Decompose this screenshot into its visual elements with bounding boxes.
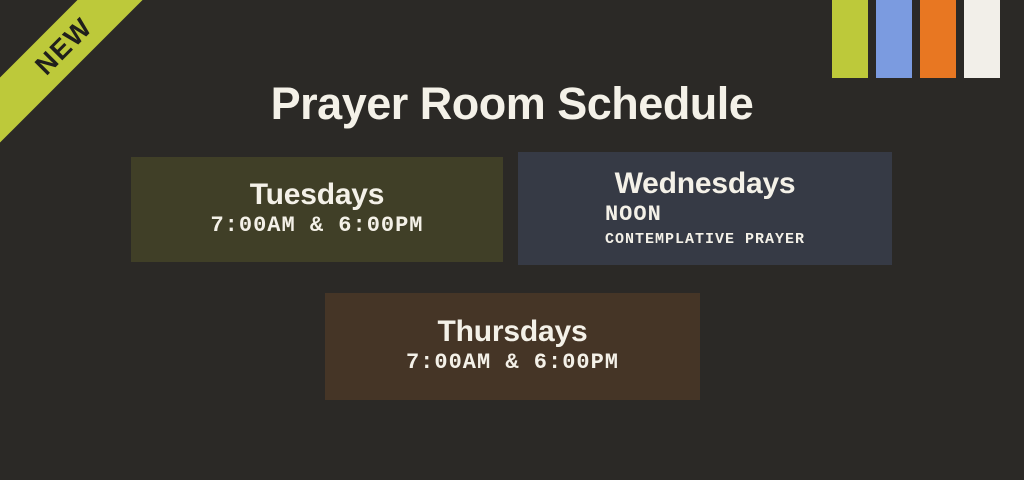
bar-orange [920, 0, 956, 78]
page-title: Prayer Room Schedule [0, 79, 1024, 129]
card-time-label: 7:00AM & 6:00PM [406, 349, 619, 378]
ribbon-label: NEW [29, 13, 97, 81]
prayer-room-schedule-poster: NEW Prayer Room Schedule Tuesdays 7:00AM… [0, 0, 1024, 480]
card-day-label: Tuesdays [250, 178, 385, 213]
ribbon-band: NEW [0, 0, 168, 152]
card-content: Wednesdays NOON CONTEMPLATIVE PRAYER [518, 152, 892, 265]
card-time-label: NOON [605, 201, 662, 230]
card-detail-block: NOON CONTEMPLATIVE PRAYER [605, 201, 805, 250]
card-day-label: Thursdays [438, 315, 588, 350]
schedule-card-tuesdays: Tuesdays 7:00AM & 6:00PM [131, 157, 503, 262]
card-time-label: 7:00AM & 6:00PM [210, 212, 423, 241]
bar-blue [876, 0, 912, 78]
bar-cream [964, 0, 1000, 78]
bar-yellow-green [832, 0, 868, 78]
card-content: Tuesdays 7:00AM & 6:00PM [131, 157, 503, 262]
card-day-label: Wednesdays [615, 167, 796, 202]
color-bar-group [832, 0, 1000, 78]
schedule-card-wednesdays: Wednesdays NOON CONTEMPLATIVE PRAYER [518, 152, 892, 265]
card-note-label: CONTEMPLATIVE PRAYER [605, 230, 805, 250]
schedule-card-thursdays: Thursdays 7:00AM & 6:00PM [325, 293, 700, 400]
card-content: Thursdays 7:00AM & 6:00PM [325, 293, 700, 400]
